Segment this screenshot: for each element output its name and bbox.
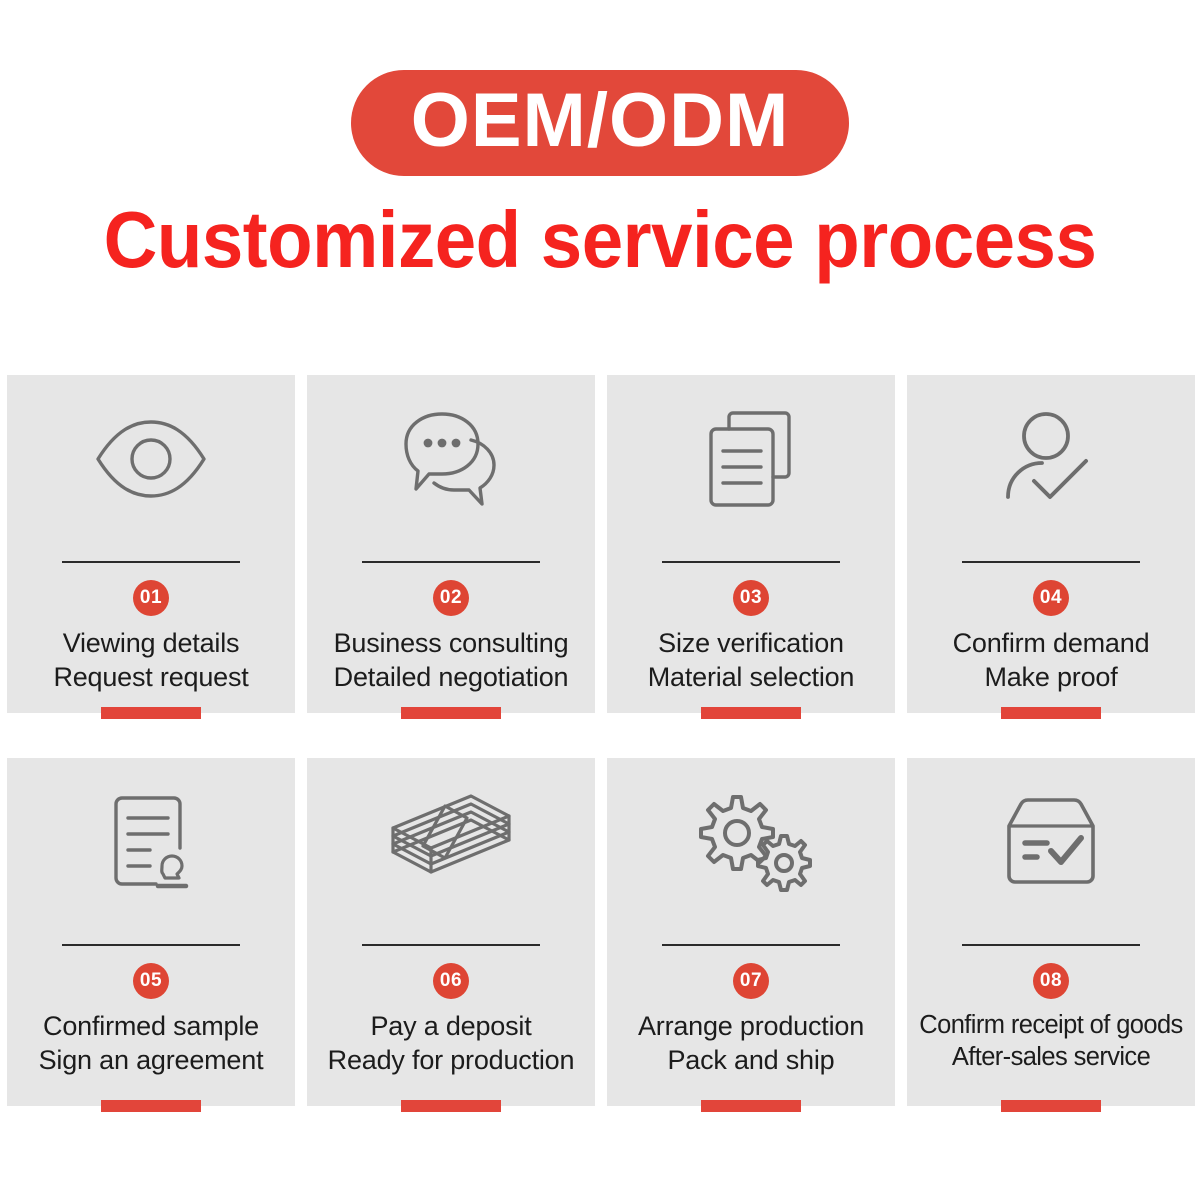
card-divider bbox=[662, 944, 840, 946]
step-line-2: Detailed negotiation bbox=[334, 660, 569, 694]
step-line-1: Viewing details bbox=[53, 626, 248, 660]
step-card-02[interactable]: 02 Business consulting Detailed negotiat… bbox=[307, 375, 595, 713]
user-check-icon bbox=[907, 375, 1195, 535]
card-divider bbox=[62, 944, 240, 946]
step-line-2: Pack and ship bbox=[638, 1043, 864, 1077]
card-divider bbox=[362, 561, 540, 563]
step-card-01[interactable]: 01 Viewing details Request request bbox=[7, 375, 295, 713]
certificate-seal-icon bbox=[7, 758, 295, 918]
card-divider bbox=[962, 944, 1140, 946]
step-line-2: Material selection bbox=[648, 660, 855, 694]
step-text: Confirm receipt of goods After-sales ser… bbox=[919, 1009, 1182, 1074]
money-stack-icon bbox=[307, 758, 595, 918]
card-divider bbox=[362, 944, 540, 946]
steps-grid: 01 Viewing details Request request 02 bbox=[7, 375, 1193, 1106]
page-title: Customized service process bbox=[42, 198, 1158, 282]
page-header: OEM/ODM Customized service process bbox=[0, 0, 1200, 282]
card-divider bbox=[62, 561, 240, 563]
step-line-2: Sign an agreement bbox=[39, 1043, 264, 1077]
step-card-03[interactable]: 03 Size verification Material selection bbox=[607, 375, 895, 713]
step-text: Pay a deposit Ready for production bbox=[328, 1009, 575, 1078]
documents-icon bbox=[607, 375, 895, 535]
accent-bar bbox=[701, 1100, 801, 1112]
step-card-05[interactable]: 05 Confirmed sample Sign an agreement bbox=[7, 758, 295, 1106]
step-line-1: Pay a deposit bbox=[328, 1009, 575, 1043]
step-line-1: Business consulting bbox=[334, 626, 569, 660]
step-line-1: Confirm receipt of goods bbox=[919, 1009, 1182, 1041]
step-number-badge: 08 bbox=[1033, 963, 1069, 999]
gears-icon bbox=[607, 758, 895, 918]
step-line-2: Ready for production bbox=[328, 1043, 575, 1077]
accent-bar bbox=[1001, 707, 1101, 719]
step-line-2: Request request bbox=[53, 660, 248, 694]
package-check-icon bbox=[907, 758, 1195, 918]
step-number-badge: 04 bbox=[1033, 580, 1069, 616]
accent-bar bbox=[101, 1100, 201, 1112]
step-number-badge: 05 bbox=[133, 963, 169, 999]
eye-icon bbox=[7, 375, 295, 535]
accent-bar bbox=[401, 707, 501, 719]
card-divider bbox=[662, 561, 840, 563]
step-line-1: Confirm demand bbox=[953, 626, 1150, 660]
accent-bar bbox=[1001, 1100, 1101, 1112]
step-line-2: After-sales service bbox=[919, 1041, 1182, 1073]
step-number-badge: 01 bbox=[133, 580, 169, 616]
step-number-badge: 03 bbox=[733, 580, 769, 616]
step-line-1: Confirmed sample bbox=[39, 1009, 264, 1043]
step-text: Size verification Material selection bbox=[648, 626, 855, 695]
step-line-2: Make proof bbox=[953, 660, 1150, 694]
step-number-badge: 06 bbox=[433, 963, 469, 999]
step-card-08[interactable]: 08 Confirm receipt of goods After-sales … bbox=[907, 758, 1195, 1106]
step-card-07[interactable]: 07 Arrange production Pack and ship bbox=[607, 758, 895, 1106]
accent-bar bbox=[101, 707, 201, 719]
step-line-1: Size verification bbox=[648, 626, 855, 660]
step-text: Viewing details Request request bbox=[53, 626, 248, 695]
step-text: Arrange production Pack and ship bbox=[638, 1009, 864, 1078]
step-line-1: Arrange production bbox=[638, 1009, 864, 1043]
step-card-06[interactable]: 06 Pay a deposit Ready for production bbox=[307, 758, 595, 1106]
step-number-badge: 02 bbox=[433, 580, 469, 616]
accent-bar bbox=[701, 707, 801, 719]
step-text: Confirmed sample Sign an agreement bbox=[39, 1009, 264, 1078]
accent-bar bbox=[401, 1100, 501, 1112]
chat-bubbles-icon bbox=[307, 375, 595, 535]
step-text: Confirm demand Make proof bbox=[953, 626, 1150, 695]
infographic-page: OEM/ODM Customized service process 01 Vi… bbox=[0, 0, 1200, 1200]
oem-odm-badge: OEM/ODM bbox=[351, 70, 850, 176]
step-number-badge: 07 bbox=[733, 963, 769, 999]
step-card-04[interactable]: 04 Confirm demand Make proof bbox=[907, 375, 1195, 713]
card-divider bbox=[962, 561, 1140, 563]
step-text: Business consulting Detailed negotiation bbox=[334, 626, 569, 695]
